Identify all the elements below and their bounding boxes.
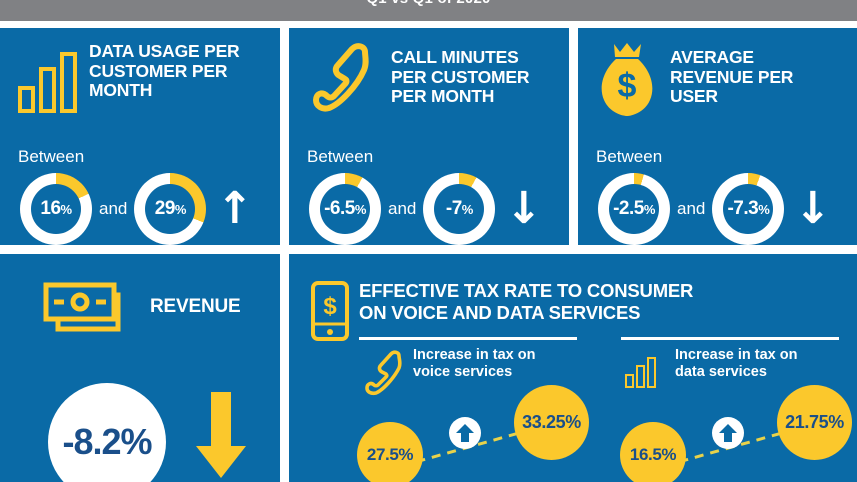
revenue-value-circle: -8.2%	[48, 383, 166, 482]
svg-text:$: $	[618, 67, 637, 105]
card-average-revenue-per-user: $ AVERAGE REVENUE PER USER Between -2.5%…	[578, 28, 857, 245]
phone-handset-icon	[361, 349, 409, 397]
money-bag-icon: $	[596, 40, 658, 118]
and-separator: and	[388, 199, 416, 219]
donut-value: -7%	[446, 198, 473, 220]
data-from-bubble: 16.5%	[620, 422, 686, 482]
trend-down-icon: ↓	[505, 187, 542, 231]
phone-handset-icon	[307, 42, 381, 114]
voice-to-bubble: 33.25%	[514, 385, 589, 460]
bar-chart-icon	[625, 357, 656, 388]
banknote-icon	[42, 279, 134, 335]
card-call-minutes-metrics: -6.5% and -7% ↓	[309, 173, 542, 245]
donut-gauge: -7%	[423, 173, 495, 245]
card-data-usage-header: DATA USAGE PER CUSTOMER PER MONTH	[18, 42, 268, 113]
data-label-line2: data services	[675, 364, 767, 380]
revenue-trend-down-icon	[193, 390, 249, 482]
revenue-value: -8.2%	[62, 421, 151, 463]
donut-value: -6.5%	[324, 198, 366, 220]
data-from-value: 16.5%	[630, 445, 676, 465]
donut-value: -7.3%	[727, 198, 769, 220]
voice-label-line2: voice services	[413, 364, 512, 380]
voice-from-bubble: 27.5%	[357, 422, 423, 482]
donut-center: 16%	[31, 184, 81, 234]
donut-value: -2.5%	[613, 198, 655, 220]
trend-down-icon: ↓	[794, 187, 831, 231]
donut-gauge: -6.5%	[309, 173, 381, 245]
card-data-usage: DATA USAGE PER CUSTOMER PER MONTH Betwee…	[0, 28, 280, 245]
voice-to-value: 33.25%	[522, 412, 581, 433]
card-call-minutes: CALL MINUTES PER CUSTOMER PER MONTH Betw…	[289, 28, 569, 245]
smartphone-dollar-icon: $	[310, 280, 350, 342]
card-data-usage-metrics: 16% and 29% ↑	[20, 173, 253, 245]
card-revenue-header: REVENUE	[42, 279, 272, 335]
donut-center: 29%	[145, 184, 195, 234]
page-title: Q1 vs Q1 of 2020	[0, 0, 857, 7]
donut-value: 16%	[40, 198, 71, 220]
svg-text:$: $	[323, 293, 337, 320]
donut-center: -7%	[434, 184, 484, 234]
card-arpu-metrics: -2.5% and -7.3% ↓	[598, 173, 831, 245]
and-separator: and	[99, 199, 127, 219]
data-label-line1: Increase in tax on	[675, 347, 798, 363]
donut-center: -2.5%	[609, 184, 659, 234]
bar-chart-icon	[18, 52, 77, 113]
data-increase-up-icon	[712, 417, 744, 449]
and-separator: and	[677, 199, 705, 219]
data-to-value: 21.75%	[785, 412, 844, 433]
card-tax-title-line2: ON VOICE AND DATA SERVICES	[359, 302, 640, 324]
donut-center: -7.3%	[723, 184, 773, 234]
card-arpu-header: $ AVERAGE REVENUE PER USER	[596, 40, 846, 118]
card-call-minutes-title: CALL MINUTES PER CUSTOMER PER MONTH	[391, 48, 551, 107]
card-call-minutes-header: CALL MINUTES PER CUSTOMER PER MONTH	[307, 40, 559, 114]
donut-gauge: -7.3%	[712, 173, 784, 245]
infographic-root: Q1 vs Q1 of 2020 DATA USAGE PER CUSTOMER…	[0, 0, 857, 482]
donut-value: 29%	[155, 198, 186, 220]
voice-from-value: 27.5%	[367, 445, 413, 465]
card-effective-tax-rate: $ EFFECTIVE TAX RATE TO CONSUMER ON VOIC…	[289, 254, 857, 482]
card-tax-title-line1: EFFECTIVE TAX RATE TO CONSUMER	[359, 280, 693, 302]
donut-gauge: -2.5%	[598, 173, 670, 245]
voice-increase-up-icon	[449, 417, 481, 449]
divider-voice	[359, 337, 577, 340]
header-band: Q1 vs Q1 of 2020	[0, 0, 857, 21]
donut-gauge: 29%	[134, 173, 206, 245]
card-arpu-between-label: Between	[596, 147, 662, 167]
card-data-usage-between-label: Between	[18, 147, 84, 167]
divider-data	[621, 337, 839, 340]
card-revenue-title: REVENUE	[150, 296, 240, 317]
card-call-minutes-between-label: Between	[307, 147, 373, 167]
donut-gauge: 16%	[20, 173, 92, 245]
card-arpu-title: AVERAGE REVENUE PER USER	[670, 48, 820, 107]
trend-up-icon: ↑	[216, 187, 253, 231]
donut-center: -6.5%	[320, 184, 370, 234]
data-to-bubble: 21.75%	[777, 385, 852, 460]
card-data-usage-title: DATA USAGE PER CUSTOMER PER MONTH	[89, 42, 244, 101]
card-revenue: REVENUE -8.2%	[0, 254, 280, 482]
voice-label-line1: Increase in tax on	[413, 347, 536, 363]
